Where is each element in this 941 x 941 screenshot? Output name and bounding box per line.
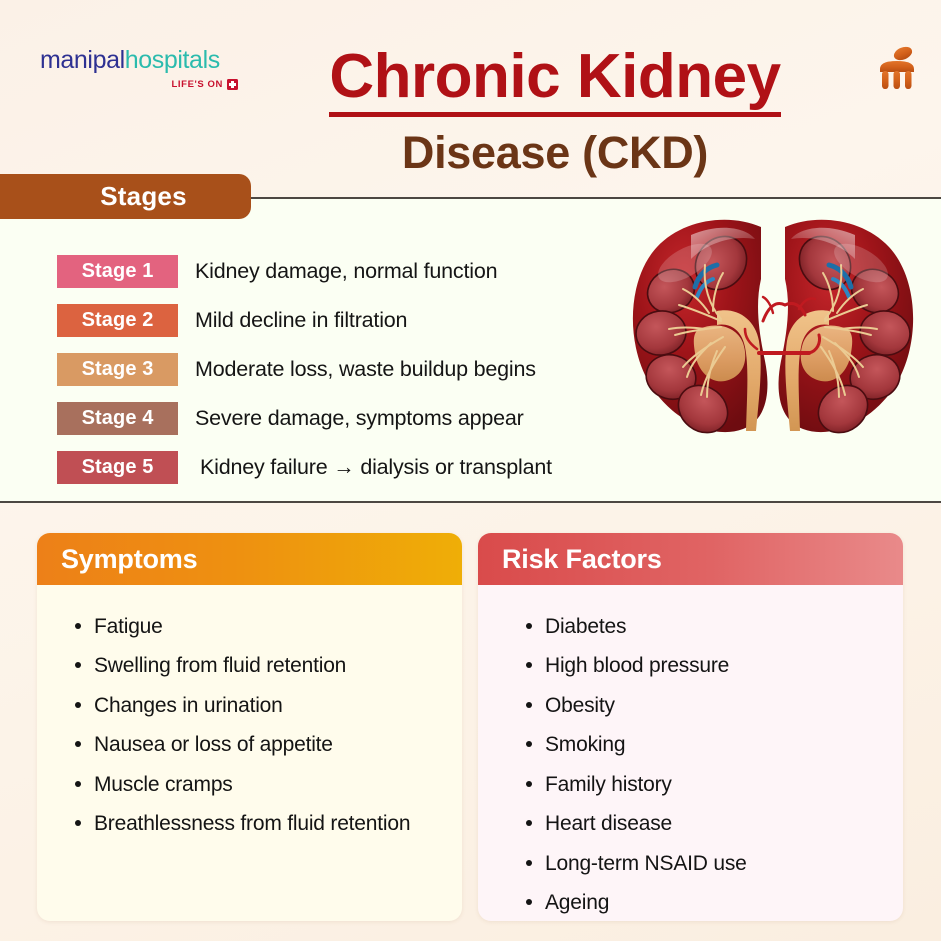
- stage-description: Kidney failure → dialysis or transplant: [200, 455, 552, 480]
- stage-row: Stage 4 Severe damage, symptoms appear: [57, 394, 627, 443]
- risk-factors-panel-header: Risk Factors: [478, 533, 903, 585]
- stage-badge: Stage 4: [57, 402, 178, 435]
- stage-description: Moderate loss, waste buildup begins: [195, 357, 536, 382]
- risk-factors-panel: Risk Factors Diabetes High blood pressur…: [478, 533, 903, 921]
- left-kidney: [633, 220, 768, 443]
- stage-badge-label: Stage 2: [82, 309, 154, 332]
- list-item: Swelling from fluid retention: [73, 646, 442, 685]
- list-item: Fatigue: [73, 607, 442, 646]
- stage-list: Stage 1 Kidney damage, normal function S…: [57, 247, 627, 492]
- list-item: Muscle cramps: [73, 765, 442, 804]
- symptoms-title: Symptoms: [61, 544, 197, 575]
- page-title: Chronic Kidney Disease (CKD): [255, 44, 855, 176]
- bottom-panels: Symptoms Fatigue Swelling from fluid ret…: [0, 503, 941, 941]
- stages-tab: Stages: [0, 174, 251, 219]
- stage-description: Kidney damage, normal function: [195, 259, 497, 284]
- stage-badge-label: Stage 3: [82, 358, 154, 381]
- symptoms-list: Fatigue Swelling from fluid retention Ch…: [37, 585, 462, 844]
- right-kidney: [779, 220, 914, 443]
- stage-badge: Stage 3: [57, 353, 178, 386]
- red-cross-icon: [227, 79, 238, 90]
- symptoms-panel: Symptoms Fatigue Swelling from fluid ret…: [37, 533, 462, 921]
- nephron-icon: [871, 44, 923, 94]
- header-band: manipalhospitals LIFE'S ON Chronic Kidne…: [0, 0, 941, 197]
- list-item: High blood pressure: [524, 646, 883, 685]
- stage-badge: Stage 5: [57, 451, 178, 484]
- logo-text-manipal: manipal: [40, 46, 125, 74]
- logo-tagline-row: LIFE'S ON: [40, 79, 240, 90]
- kidney-anatomy-illustration: [613, 201, 933, 491]
- logo-wordmark: manipalhospitals: [40, 48, 240, 73]
- stage-badge-label: Stage 5: [82, 456, 154, 479]
- manipal-hospitals-logo: manipalhospitals LIFE'S ON: [40, 48, 240, 90]
- list-item: Smoking: [524, 725, 883, 764]
- list-item: Breathlessness from fluid retention: [73, 804, 442, 843]
- stage-row: Stage 3 Moderate loss, waste buildup beg…: [57, 345, 627, 394]
- stage-row: Stage 5 Kidney failure → dialysis or tra…: [57, 443, 627, 492]
- list-item: Long-term NSAID use: [524, 844, 883, 883]
- stage-description: Severe damage, symptoms appear: [195, 406, 524, 431]
- list-item: Diabetes: [524, 607, 883, 646]
- list-item: Changes in urination: [73, 686, 442, 725]
- stages-section: Stages Stage 1 Kidney damage, normal fun…: [0, 197, 941, 503]
- stage-description: Mild decline in filtration: [195, 308, 407, 333]
- symptoms-panel-header: Symptoms: [37, 533, 462, 585]
- list-item: Heart disease: [524, 804, 883, 843]
- stage-row: Stage 2 Mild decline in filtration: [57, 296, 627, 345]
- risk-factors-title: Risk Factors: [502, 544, 662, 575]
- stage-badge-label: Stage 4: [82, 407, 154, 430]
- list-item: Obesity: [524, 686, 883, 725]
- stage-badge: Stage 1: [57, 255, 178, 288]
- list-item: Ageing: [524, 883, 883, 921]
- title-main: Chronic Kidney: [329, 44, 780, 117]
- stage-badge: Stage 2: [57, 304, 178, 337]
- list-item: Nausea or loss of appetite: [73, 725, 442, 764]
- list-item: Family history: [524, 765, 883, 804]
- risk-factors-list: Diabetes High blood pressure Obesity Smo…: [478, 585, 903, 921]
- infographic-poster: manipalhospitals LIFE'S ON Chronic Kidne…: [0, 0, 941, 941]
- logo-tagline: LIFE'S ON: [172, 79, 223, 90]
- logo-text-hospitals: hospitals: [125, 46, 220, 74]
- stage-row: Stage 1 Kidney damage, normal function: [57, 247, 627, 296]
- stage-badge-label: Stage 1: [82, 260, 154, 283]
- stages-tab-label: Stages: [64, 181, 186, 212]
- title-sub: Disease (CKD): [255, 129, 855, 176]
